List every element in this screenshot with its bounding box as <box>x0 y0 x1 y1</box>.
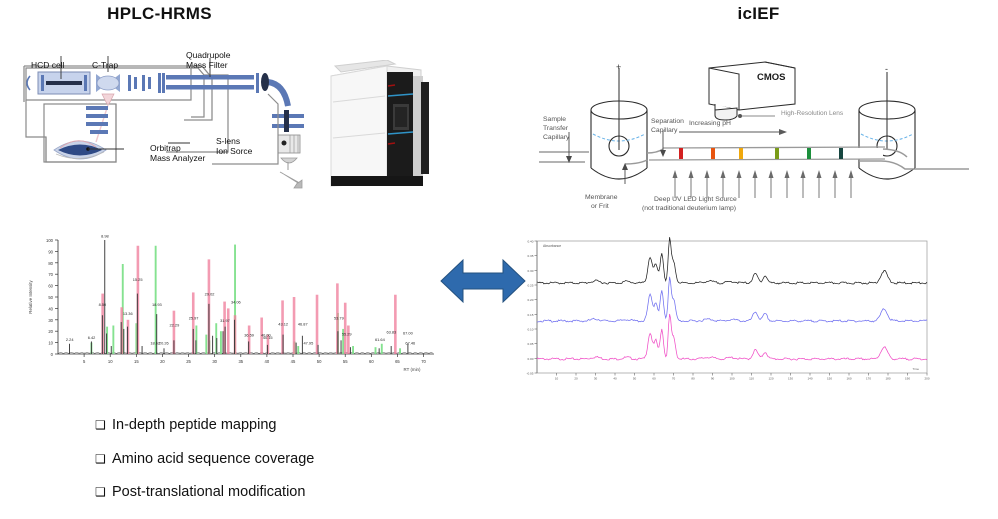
svg-text:130: 130 <box>788 377 793 381</box>
svg-text:80: 80 <box>691 377 695 381</box>
label-cmos: CMOS <box>757 72 786 83</box>
svg-text:63.83: 63.83 <box>386 329 396 334</box>
label-quadrupole: Quadrupole <box>186 50 230 60</box>
svg-text:34.06: 34.06 <box>231 300 241 305</box>
label-ion-source: Ion Sorce <box>216 146 252 156</box>
icief-panel: icIEF <box>499 0 998 519</box>
svg-text:35: 35 <box>238 359 243 364</box>
svg-text:0.05: 0.05 <box>527 342 533 346</box>
svg-text:15.25: 15.25 <box>133 277 143 282</box>
list-item-label: In-depth peptide mapping <box>112 418 276 433</box>
svg-text:60: 60 <box>652 377 656 381</box>
svg-text:170: 170 <box>866 377 871 381</box>
svg-text:0.30: 0.30 <box>527 269 533 273</box>
svg-text:0.20: 0.20 <box>527 298 533 302</box>
label-hcd-cell: HCD cell <box>31 60 65 70</box>
svg-text:100: 100 <box>46 238 54 243</box>
svg-text:25.97: 25.97 <box>189 316 199 321</box>
list-item: ❑ In-depth peptide mapping <box>95 418 314 433</box>
hplc-hrms-panel: HPLC-HRMS <box>0 0 499 519</box>
svg-text:0.00: 0.00 <box>527 357 533 361</box>
svg-text:50: 50 <box>633 377 637 381</box>
svg-text:80: 80 <box>48 261 53 266</box>
list-item: ❑ Amino acid sequence coverage <box>95 452 314 467</box>
svg-text:30: 30 <box>594 377 598 381</box>
svg-text:25: 25 <box>186 359 191 364</box>
left-bullet-list: ❑ In-depth peptide mapping ❑ Amino acid … <box>95 418 314 519</box>
svg-text:55: 55 <box>343 359 348 364</box>
list-item-label: Amino acid sequence coverage <box>112 452 314 467</box>
svg-text:20: 20 <box>48 329 53 334</box>
svg-text:43.12: 43.12 <box>278 321 288 326</box>
svg-text:0.35: 0.35 <box>527 254 533 258</box>
svg-text:55.29: 55.29 <box>342 332 352 337</box>
svg-text:30: 30 <box>48 318 53 323</box>
left-panel-title: HPLC-HRMS <box>0 4 409 24</box>
checkbox-bullet-icon: ❑ <box>95 419 112 431</box>
svg-text:0.15: 0.15 <box>527 313 533 317</box>
label-uv-source-2: (not traditional deuterium lamp) <box>642 205 736 212</box>
svg-text:20.26: 20.26 <box>159 341 169 346</box>
svg-text:15: 15 <box>134 359 139 364</box>
label-sample-1: Sample <box>543 116 566 123</box>
label-uv-source-1: Deep UV LED Light Source <box>654 196 737 203</box>
svg-text:70: 70 <box>421 359 426 364</box>
svg-text:120: 120 <box>768 377 773 381</box>
svg-text:8.50: 8.50 <box>99 302 107 307</box>
checkbox-bullet-icon: ❑ <box>95 453 112 465</box>
svg-text:180: 180 <box>885 377 890 381</box>
svg-text:190: 190 <box>905 377 910 381</box>
label-mass-analyzer: Mass Analyzer <box>150 153 205 163</box>
label-membrane-1: Membrane <box>585 194 618 201</box>
label-sample-2: Transfer <box>543 125 568 132</box>
svg-text:0.40: 0.40 <box>527 240 533 244</box>
svg-text:100: 100 <box>729 377 734 381</box>
svg-text:50: 50 <box>48 295 53 300</box>
svg-text:31.97: 31.97 <box>220 318 230 323</box>
svg-text:29.02: 29.02 <box>205 292 215 297</box>
svg-text:RT (min): RT (min) <box>404 367 421 372</box>
svg-text:36.59: 36.59 <box>244 333 254 338</box>
svg-text:110: 110 <box>749 377 754 381</box>
svg-text:30: 30 <box>212 359 217 364</box>
svg-text:65: 65 <box>395 359 400 364</box>
label-separation-2: Capillary <box>651 127 677 134</box>
list-item-label: Post-translational modification <box>112 485 305 500</box>
peptide-map-chromatogram: 0102030405060708090100510152025303540455… <box>22 232 442 387</box>
svg-text:67.46: 67.46 <box>405 341 415 346</box>
label-sample-3: Capillary <box>543 134 569 141</box>
list-item: ❑ Post-translational modification <box>95 485 314 500</box>
label-anode: + <box>616 62 621 72</box>
svg-text:40: 40 <box>265 359 270 364</box>
svg-text:6.42: 6.42 <box>88 335 96 340</box>
label-increasing-ph: Increasing pH <box>689 120 731 127</box>
svg-text:40.15: 40.15 <box>263 335 273 340</box>
svg-text:0: 0 <box>51 352 54 357</box>
svg-text:160: 160 <box>846 377 851 381</box>
svg-text:Relative Intensity: Relative Intensity <box>28 279 33 313</box>
svg-text:8.98: 8.98 <box>101 234 109 239</box>
svg-text:70: 70 <box>48 272 53 277</box>
svg-text:13.36: 13.36 <box>123 311 133 316</box>
svg-text:Absorbance: Absorbance <box>543 244 561 248</box>
svg-text:20: 20 <box>160 359 165 364</box>
svg-text:18.93: 18.93 <box>152 302 162 307</box>
svg-text:0.10: 0.10 <box>527 328 533 332</box>
label-cathode: - <box>885 64 888 74</box>
svg-text:0.25: 0.25 <box>527 284 533 288</box>
svg-text:140: 140 <box>807 377 812 381</box>
svg-text:22.29: 22.29 <box>170 322 180 327</box>
label-s-lens: S-lens <box>216 136 240 146</box>
svg-text:50: 50 <box>317 359 322 364</box>
svg-text:2.24: 2.24 <box>66 337 74 342</box>
label-high-resolution-lens: High-Resolution Lens <box>781 110 843 117</box>
svg-text:53.79: 53.79 <box>334 316 344 321</box>
right-panel-title: icIEF <box>509 4 998 24</box>
svg-text:Time: Time <box>912 367 919 371</box>
label-membrane-2: or Frit <box>591 203 609 210</box>
svg-text:20: 20 <box>574 377 578 381</box>
svg-text:5: 5 <box>83 359 86 364</box>
svg-text:60: 60 <box>369 359 374 364</box>
svg-text:60: 60 <box>48 284 53 289</box>
svg-text:90: 90 <box>711 377 715 381</box>
svg-text:40: 40 <box>613 377 617 381</box>
svg-text:200: 200 <box>924 377 929 381</box>
instrument-photo <box>325 60 430 192</box>
label-separation-1: Separation <box>651 118 684 125</box>
svg-text:67.00: 67.00 <box>403 330 414 335</box>
label-orbitrap: Orbitrap <box>150 143 181 153</box>
svg-text:10: 10 <box>108 359 113 364</box>
svg-text:150: 150 <box>827 377 832 381</box>
svg-text:46.87: 46.87 <box>298 321 308 326</box>
svg-text:-0.05: -0.05 <box>526 372 533 376</box>
checkbox-bullet-icon: ❑ <box>95 486 112 498</box>
svg-text:90: 90 <box>48 249 53 254</box>
svg-text:61.64: 61.64 <box>375 337 386 342</box>
label-mass-filter: Mass Filter <box>186 60 228 70</box>
svg-text:40: 40 <box>48 306 53 311</box>
label-c-trap: C-Trap <box>92 60 118 70</box>
svg-text:45: 45 <box>291 359 296 364</box>
svg-text:70: 70 <box>672 377 676 381</box>
svg-text:10: 10 <box>48 341 53 346</box>
svg-text:47.95: 47.95 <box>304 341 314 346</box>
svg-text:10: 10 <box>555 377 559 381</box>
icief-electropherogram: Absorbance0.400.350.300.250.200.150.100.… <box>507 233 987 393</box>
